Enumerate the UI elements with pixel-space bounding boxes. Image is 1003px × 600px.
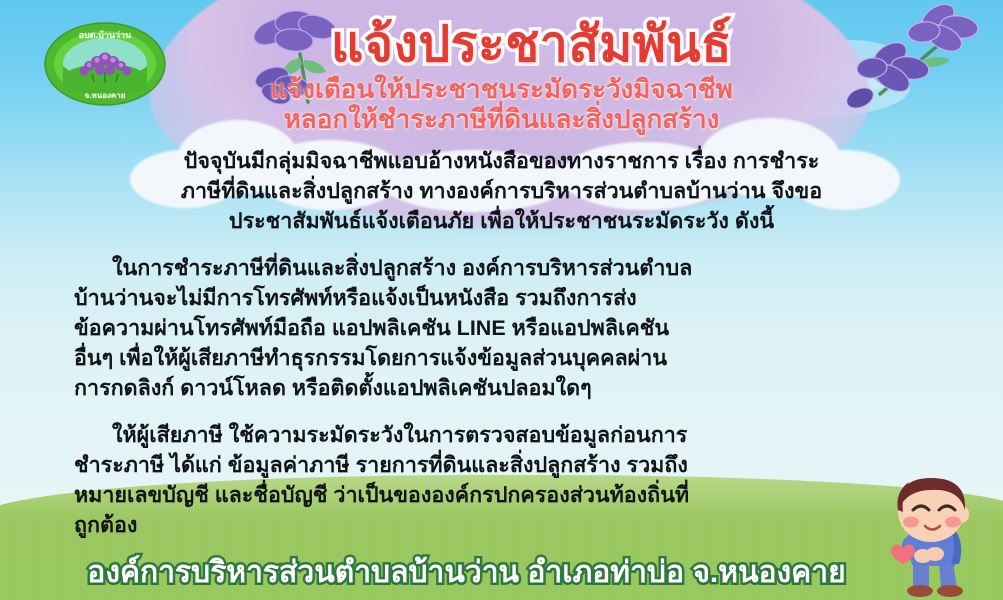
body-line: ปัจจุบันมีกลุ่มมิจฉาชีพแอบอ้างหนังสือของ… — [24, 146, 979, 176]
announcement-body: ปัจจุบันมีกลุ่มมิจฉาชีพแอบอ้างหนังสือของ… — [24, 146, 979, 540]
body-line: ในการชำระภาษีที่ดินและสิ่งปลูกสร้าง องค์… — [74, 253, 979, 283]
announcement-poster: อบต.บ้านว่าน จ.หนองคาย — [0, 0, 1003, 600]
body-line: อื่นๆ เพื่อให้ผู้เสียภาษีทำธุรกรรมโดยการ… — [74, 343, 979, 373]
subtitle-line: แจ้งเตือนให้ประชาชนระมัดระวังมิจฉาชีพ — [0, 74, 1003, 104]
paragraph-warning: ในการชำระภาษีที่ดินและสิ่งปลูกสร้าง องค์… — [24, 253, 979, 403]
body-line: ภาษีที่ดินและสิ่งปลูกสร้าง ทางองค์การบริ… — [24, 176, 979, 206]
body-line: ชำระภาษี ได้แก่ ข้อมูลค่าภาษี รายการที่ด… — [74, 450, 979, 480]
subtitle-line: หลอกให้ชำระภาษีที่ดินและสิ่งปลูกสร้าง — [0, 104, 1003, 134]
footer-bar: องค์การบริหารส่วนตำบลบ้านว่าน อำเภอท่าบ่… — [0, 554, 1003, 592]
organization-footer-name: องค์การบริหารส่วนตำบลบ้านว่าน อำเภอท่าบ่… — [87, 554, 915, 592]
poster-subtitle: แจ้งเตือนให้ประชาชนระมัดระวังมิจฉาชีพ หล… — [0, 74, 1003, 134]
paragraph-advice: ให้ผู้เสียภาษี ใช้ความระมัดระวังในการตรว… — [24, 420, 979, 540]
poster-heading-group: แจ้งประชาสัมพันธ์ แจ้งเตือนให้ประชาชนระม… — [0, 16, 1003, 134]
body-line: ข้อความผ่านโทรศัพท์มือถือ แอปพลิเคชัน LI… — [74, 313, 979, 343]
body-line: ประชาสัมพันธ์แจ้งเตือนภัย เพื่อให้ประชาช… — [24, 206, 979, 236]
body-line: ถูกต้อง — [74, 510, 979, 540]
body-line: บ้านว่านจะไม่มีการโทรศัพท์หรือแจ้งเป็นหน… — [74, 283, 979, 313]
paragraph-intro: ปัจจุบันมีกลุ่มมิจฉาชีพแอบอ้างหนังสือของ… — [24, 146, 979, 236]
body-line: หมายเลขบัญชี และชื่อบัญชี ว่าเป็นขององค์… — [74, 480, 979, 510]
page-title: แจ้งประชาสัมพันธ์ — [0, 16, 1003, 72]
body-line: การกดลิงก์ ดาวน์โหลด หรือติดตั้งแอปพลิเค… — [74, 373, 979, 403]
body-line: ให้ผู้เสียภาษี ใช้ความระมัดระวังในการตรว… — [74, 420, 979, 450]
